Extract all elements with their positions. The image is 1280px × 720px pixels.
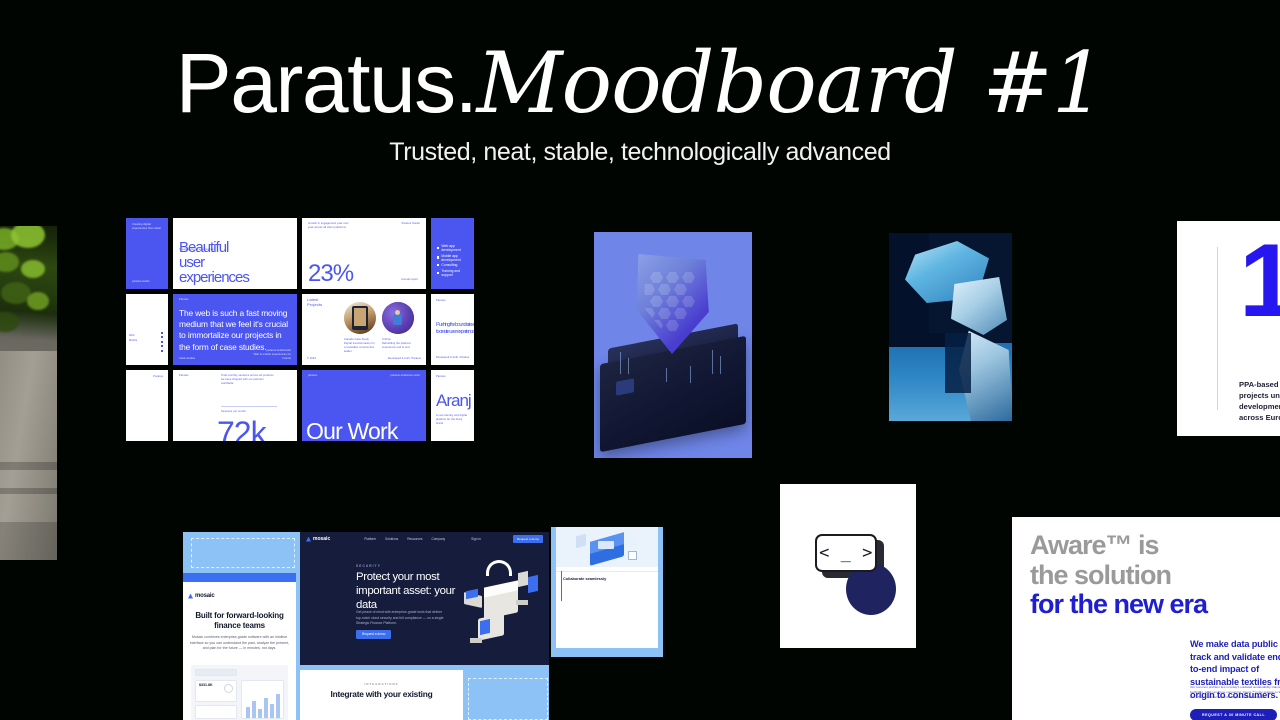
mockup-heading-c: Integrate with your existing	[310, 689, 453, 699]
nav-item[interactable]: Solutions	[385, 537, 398, 541]
list-item: Web app development	[437, 244, 468, 252]
stat-caption: PPA-based projects under development acr…	[1239, 379, 1280, 423]
list-item: Mobile app development	[437, 254, 468, 262]
grid-cell-aranj[interactable]: Paratus Aranj A new identity and digital…	[431, 370, 474, 441]
reference-stat-card-one: 1 PPA-based projects under development a…	[1177, 221, 1280, 436]
mockup-panel-security: mosaic Platform Solutions Resources Comp…	[300, 532, 549, 665]
reference-abstract-blue-stone	[889, 233, 1012, 421]
divider	[1217, 247, 1218, 410]
list-item: Consulting	[437, 263, 468, 267]
moodboard-header: Paratus.Moodboard #1 Trusted, neat, stab…	[0, 0, 1280, 167]
mockup-kicker-security: SECURITY	[356, 564, 381, 568]
promo-banner-text: Build a more agile financial plan for 20…	[183, 583, 274, 587]
reference-aware-card: Aware™ is the solution for the new era W…	[1012, 517, 1280, 720]
mockup-heading-b: Protect your most important asset: your …	[356, 571, 461, 613]
grid-cell-beautiful-user-experiences[interactable]: Creating digital experiences Beautifulus…	[173, 218, 297, 289]
mockup-paragraph-b: Get peace of mind with enterprise-grade …	[356, 610, 448, 627]
aware-heading-line2: the solution	[1030, 560, 1171, 590]
grid-cell-r1c1[interactable]: Creating digital experiences that matter…	[126, 218, 168, 289]
report-accordion-item[interactable]: Collaborate seamlessly	[556, 571, 658, 585]
mockup-panel-finance-teams: Build a more agile financial plan for 20…	[183, 573, 296, 720]
mockup-navbar: mosaic Platform Solutions Resources Comp…	[300, 532, 549, 546]
quote-text: The web is such a fast moving medium tha…	[179, 308, 289, 353]
slide-grid: Creating digital experiences that matter…	[126, 218, 474, 454]
isometric-padlock-icon	[462, 554, 548, 654]
report-hero-illustration	[556, 527, 658, 567]
nav-item[interactable]: Company	[431, 537, 445, 541]
page-title-suffix: Moodboard #1	[477, 34, 1105, 132]
code-brackets-icon: < _ >	[815, 534, 877, 572]
mockup-request-demo-button[interactable]: Request a demo	[356, 630, 391, 639]
reference-mosaic-website-mockup: Build a more agile financial plan for 20…	[183, 532, 549, 720]
grid-cell-quote[interactable]: Paratus The web is such a fast moving me…	[173, 294, 297, 365]
list-item: Training and support	[437, 269, 468, 277]
aware-cta-button[interactable]: REQUEST A 30 MINUTE CALL	[1190, 709, 1277, 720]
mockup-panel-integrations: INTEGRATIONS Integrate with your existin…	[300, 670, 463, 720]
accent-bar	[561, 571, 562, 601]
grid-cell-r3c1[interactable]: Paratus daries ofto createeriences	[126, 370, 168, 441]
dashboard-preview: $331.8K	[191, 665, 288, 720]
grid-cell-r2c1[interactable]: Web Mobile	[126, 294, 168, 365]
aware-heading-line1: Aware™ is	[1030, 530, 1159, 560]
nav-signin[interactable]: Sign in	[471, 537, 481, 541]
mockup-kicker-integrations: INTEGRATIONS	[300, 682, 463, 686]
page-subtitle: Trusted, neat, stable, technologically a…	[0, 138, 1280, 167]
grid-cell-72k[interactable]: Paratus Total monthly sessions across al…	[173, 370, 297, 441]
hexagon-pattern-overlay	[640, 264, 704, 342]
grid-cell-our-work[interactable]: paratus paratus.studio/our-work Our Work	[302, 370, 426, 441]
reference-3d-shield-render	[594, 232, 752, 458]
reference-photo-greenery	[0, 226, 57, 560]
reference-report-panel: Report in real-time Share real-time insi…	[551, 527, 663, 657]
mockup-heading-a: Built for forward-looking finance teams	[187, 611, 292, 630]
our-work-label: Our Work	[306, 420, 398, 441]
nav-item[interactable]: Platform	[364, 537, 376, 541]
mosaic-mark-icon	[188, 594, 193, 599]
nav-item[interactable]: Resources	[407, 537, 422, 541]
aware-heading: Aware™ is the solution for the new era	[1030, 531, 1280, 620]
stat-number: 1	[1239, 239, 1280, 324]
nav-cta-button[interactable]: Request a demo	[513, 535, 543, 542]
promo-banner[interactable]: Build a more agile financial plan for 20…	[183, 573, 296, 582]
aware-heading-line3: for the new era	[1030, 590, 1280, 620]
aware-fine-print: Our common problem lies in today's outda…	[1190, 685, 1280, 700]
grid-cell-pushing-boundaries[interactable]: Paratus Pushing the boundaries of techno…	[431, 294, 474, 365]
grid-cell-services-list[interactable]: Web app development Mobile app developme…	[431, 218, 474, 289]
grid-cell-latest-projects[interactable]: LatestProjects Canada Case Study Digital…	[302, 294, 426, 365]
mosaic-logo: mosaic	[188, 593, 214, 599]
reference-code-icon-card: < _ >	[780, 484, 916, 648]
grid-cell-23-percent[interactable]: Growth in engagement year over year acro…	[302, 218, 426, 289]
page-title-brand: Paratus.	[176, 36, 477, 130]
page-title: Paratus.Moodboard #1	[0, 44, 1280, 124]
mockup-paragraph-a: Mosaic combines enterprise-grade softwar…	[189, 635, 290, 652]
